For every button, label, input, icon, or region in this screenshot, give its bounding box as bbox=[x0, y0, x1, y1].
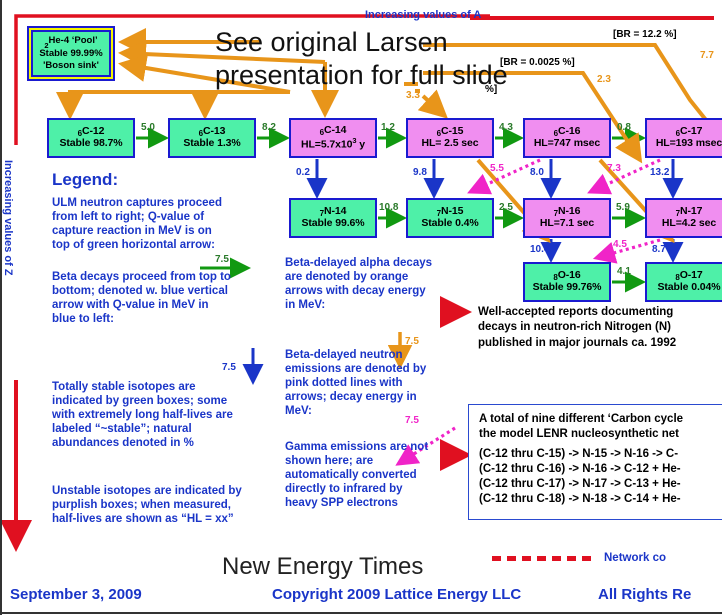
publication-title: New Energy Times bbox=[222, 553, 423, 581]
legend-item-captures: ULM neutron captures proceed from left t… bbox=[52, 196, 227, 252]
cycle-line-1: (C-12 thru C-15) -> N-15 -> N-16 -> C- bbox=[479, 447, 722, 462]
footer-date: September 3, 2009 bbox=[10, 586, 142, 603]
alpha-q-value-1: 2.3 bbox=[597, 74, 611, 85]
network-legend-label: Network co bbox=[604, 552, 666, 564]
cycle-line-4: (C-12 thru C-18) -> N-18 -> C-14 + He- bbox=[479, 492, 722, 507]
axis-label-a: Increasing values of A bbox=[365, 9, 481, 21]
note-reports: Well-accepted reports documenting decays… bbox=[478, 305, 676, 351]
cycle-line-3: (C-12 thru C-17) -> N-17 -> C-13 + He- bbox=[479, 477, 722, 492]
cycle-line-2: (C-12 thru C-16) -> N-16 -> C-12 + He- bbox=[479, 462, 722, 477]
isotope-box-n17[interactable]: 7N-17HL=4.2 sec bbox=[645, 198, 722, 238]
isotope-box-n15[interactable]: 7N-15Stable 0.4% bbox=[406, 198, 494, 238]
isotope-detail: HL=5.7x103 y bbox=[301, 137, 365, 151]
legend-pink-value: 7.5 bbox=[405, 415, 419, 426]
isotope-detail: HL= 2.5 sec bbox=[422, 138, 479, 150]
neutron-q-value-2: 4.5 bbox=[613, 239, 627, 250]
isotope-box-he4-pool[interactable]: 2He-4 ‘Pool’ Stable 99.99% 'Boson sink' bbox=[27, 26, 115, 81]
isotope-box-n16[interactable]: 7N-16HL=7.1 sec bbox=[523, 198, 611, 238]
overlay-annotation: See original Larsen presentation for ful… bbox=[215, 26, 515, 92]
isotope-box-c12[interactable]: 6C-12Stable 98.7% bbox=[47, 118, 135, 158]
beta-q-value-4: 10.4 bbox=[530, 244, 549, 255]
legend-item-stable: Totally stable isotopes are indicated by… bbox=[52, 380, 247, 450]
beta-q-value-1: 9.8 bbox=[413, 167, 427, 178]
capture-q-value-2: 1.2 bbox=[381, 122, 395, 133]
neutron-q-value-1: 7.3 bbox=[607, 163, 621, 174]
isotope-box-n14[interactable]: 7N-14Stable 99.6% bbox=[289, 198, 377, 238]
beta-q-value-2: 8.0 bbox=[530, 167, 544, 178]
isotope-box-c14[interactable]: 6C-14HL=5.7x103 y bbox=[289, 118, 377, 158]
neutron-q-value-0: 5.5 bbox=[490, 163, 504, 174]
isotope-detail: HL=747 msec bbox=[534, 138, 600, 150]
footer-rights: All Rights Re bbox=[598, 586, 691, 603]
carbon-cycle-box: A total of nine different ‘Carbon cycle … bbox=[468, 404, 722, 520]
note-reports-line-3: published in major journals ca. 1992 bbox=[478, 336, 676, 351]
overlay-line-1: See original Larsen bbox=[215, 26, 515, 59]
capture-q-value-5: 10.8 bbox=[379, 202, 398, 213]
isotope-box-o17[interactable]: 8O-17Stable 0.04% bbox=[645, 262, 722, 302]
slide-canvas: Increasing values of A Increasing values… bbox=[0, 0, 722, 615]
isotope-detail: HL=193 msec bbox=[656, 138, 722, 150]
isotope-box-c17[interactable]: 6C-17HL=193 msec bbox=[645, 118, 722, 158]
capture-q-value-3: 4.3 bbox=[499, 122, 513, 133]
beta-q-value-5: 8.7 bbox=[652, 244, 666, 255]
he4-line-3: 'Boson sink' bbox=[43, 60, 99, 72]
capture-q-value-4: 0.8 bbox=[617, 122, 631, 133]
capture-q-value-1: 8.2 bbox=[262, 122, 276, 133]
isotope-detail: Stable 99.6% bbox=[302, 218, 365, 230]
frame-left-rule bbox=[0, 0, 2, 615]
isotope-detail: HL=7.1 sec bbox=[540, 218, 594, 230]
capture-q-value-8: 4.1 bbox=[617, 266, 631, 277]
legend-item-alpha: Beta-delayed alpha decays are denoted by… bbox=[285, 256, 435, 312]
isotope-box-c13[interactable]: 6C-13Stable 1.3% bbox=[168, 118, 256, 158]
isotope-detail: Stable 99.76% bbox=[533, 282, 602, 294]
legend-green-value: 7.5 bbox=[215, 254, 229, 265]
isotope-detail: Stable 0.04% bbox=[658, 282, 721, 294]
isotope-detail: HL=4.2 sec bbox=[662, 218, 716, 230]
isotope-detail: Stable 0.4% bbox=[421, 218, 478, 230]
capture-q-value-6: 2.5 bbox=[499, 202, 513, 213]
legend-item-neutron: Beta-delayed neutron emissions are denot… bbox=[285, 348, 435, 418]
capture-q-value-0: 5.0 bbox=[141, 122, 155, 133]
he4-line-2: Stable 99.99% bbox=[39, 48, 102, 60]
isotope-symbol: 6C-14 bbox=[320, 125, 347, 137]
legend-blue-value: 7.5 bbox=[222, 362, 236, 373]
capture-q-value-7: 5.9 bbox=[616, 202, 630, 213]
isotope-box-c15[interactable]: 6C-15HL= 2.5 sec bbox=[406, 118, 494, 158]
alpha-q-value-2: 7.7 bbox=[700, 50, 714, 61]
isotope-detail: Stable 98.7% bbox=[60, 138, 123, 150]
axis-label-z: Increasing values of Z bbox=[2, 160, 14, 276]
legend-item-unstable: Unstable isotopes are indicated by purpl… bbox=[52, 484, 257, 526]
isotope-detail: Stable 1.3% bbox=[183, 138, 240, 150]
cycle-title-line-1: A total of nine different ‘Carbon cycle bbox=[479, 412, 722, 427]
note-reports-line-1: Well-accepted reports documenting bbox=[478, 305, 676, 320]
legend-orange-value: 7.5 bbox=[405, 336, 419, 347]
isotope-box-o16[interactable]: 8O-16Stable 99.76% bbox=[523, 262, 611, 302]
cycle-title-line-2: the model LENR nucleosynthetic net bbox=[479, 427, 722, 442]
footer-copyright: Copyright 2009 Lattice Energy LLC bbox=[272, 586, 521, 603]
frame-bottom-rule bbox=[0, 612, 722, 614]
legend-title: Legend: bbox=[52, 170, 118, 190]
network-dotted-line bbox=[492, 556, 596, 561]
beta-q-value-3: 13.2 bbox=[650, 167, 669, 178]
he4-line-1: 2He-4 ‘Pool’ bbox=[44, 35, 97, 48]
legend-item-beta: Beta decays proceed from top to bottom; … bbox=[52, 270, 232, 326]
branching-ratio-0: [BR = 12.2 %] bbox=[613, 29, 677, 40]
legend-item-gamma: Gamma emissions are not shown here; are … bbox=[285, 440, 435, 510]
note-reports-line-2: decays in neutron-rich Nitrogen (N) bbox=[478, 320, 676, 335]
he4-pool-inner: 2He-4 ‘Pool’ Stable 99.99% 'Boson sink' bbox=[31, 30, 111, 77]
beta-q-value-0: 0.2 bbox=[296, 167, 310, 178]
overlay-line-2: presentation for full slide bbox=[215, 59, 515, 92]
isotope-box-c16[interactable]: 6C-16HL=747 msec bbox=[523, 118, 611, 158]
